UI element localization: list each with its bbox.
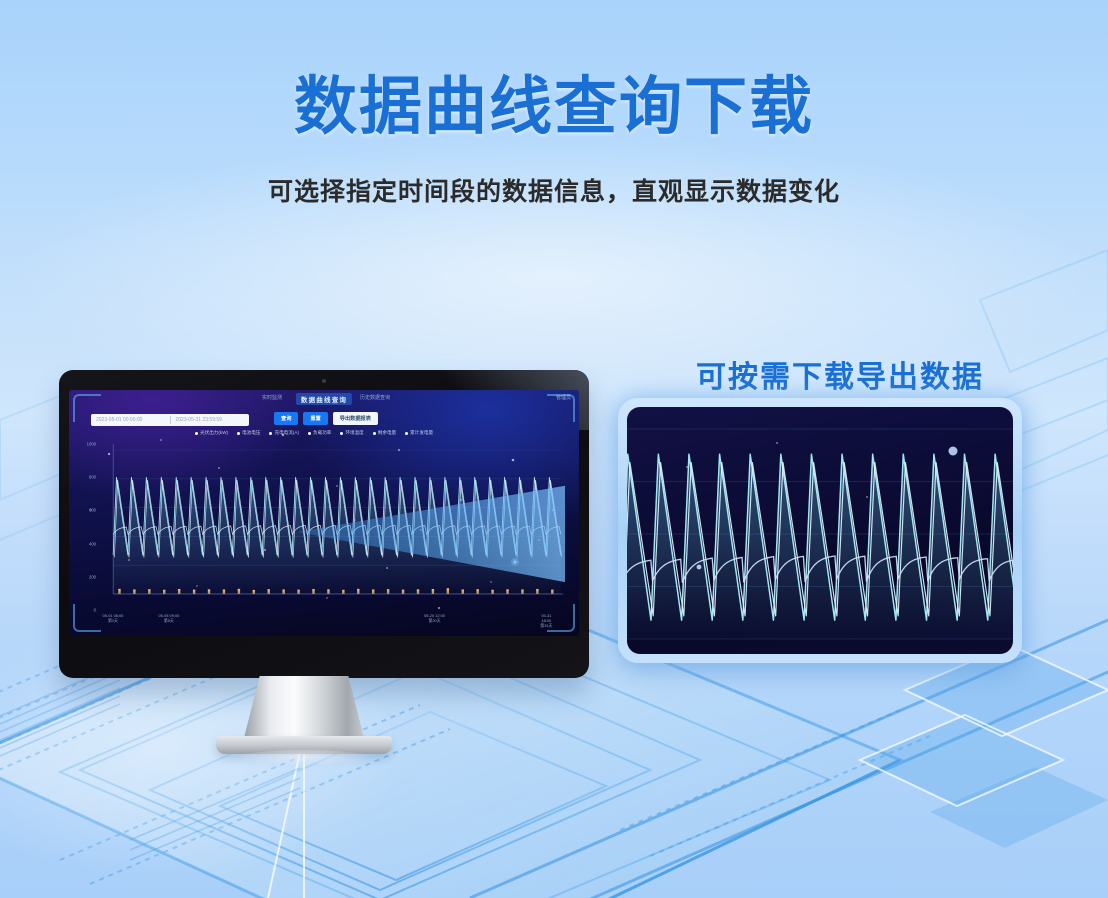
dashboard-action-buttons: 查询 重置 导出数据报表: [274, 412, 378, 425]
inset-chart-svg: [627, 407, 1013, 654]
query-button[interactable]: 查询: [274, 412, 298, 425]
y-tick-label: 200: [89, 574, 96, 579]
export-data-button[interactable]: 导出数据报表: [333, 412, 378, 425]
x-tick-label: 05-05 09:00 第5天: [159, 614, 180, 624]
date-range-picker[interactable]: 2023-05-01 00:00:00 2023-05-31 23:59:59: [91, 414, 249, 426]
legend-item[interactable]: 环境温度: [340, 430, 363, 436]
dashboard-topbar: 实时监测 数据曲线查询 历史数据查询 管理员: [69, 391, 579, 405]
inset-chart-screen: [627, 407, 1013, 654]
inset-chart-panel: [618, 398, 1022, 663]
legend-label: 累计发电量: [410, 430, 433, 436]
user-label[interactable]: 管理员: [556, 394, 571, 401]
legend-item[interactable]: 剩余电量: [373, 430, 396, 436]
legend-item[interactable]: 光伏出力(kW): [195, 430, 228, 436]
x-tick-label: 05-20 12:00 第20天: [424, 614, 445, 624]
x-tick-label: 05-31 18:00 第31天: [537, 614, 556, 629]
legend-dot-icon: [405, 432, 408, 435]
chart-plot-area: 1000 800 600 400 200 0: [99, 444, 565, 610]
chart-x-axis: 05-01 06:00 第1天 05-05 09:00 第5天 05-20 12…: [99, 614, 565, 628]
legend-item[interactable]: 电池电压: [237, 430, 260, 436]
legend-dot-icon: [373, 432, 376, 435]
nav-right-label[interactable]: 历史数据查询: [360, 394, 390, 401]
legend-dot-icon: [269, 432, 272, 435]
legend-label: 负载功率: [313, 430, 331, 436]
dashboard-ui: 实时监测 数据曲线查询 历史数据查询 管理员 2023-05-01 00:00:…: [69, 390, 579, 636]
chart-y-axis: 1000 800 600 400 200 0: [77, 444, 99, 610]
y-tick-label: 800: [89, 475, 96, 480]
legend-dot-icon: [195, 432, 198, 435]
y-tick-label: 0: [94, 608, 96, 613]
legend-item[interactable]: 累计发电量: [405, 430, 433, 436]
x-tick-label: 05-01 06:00 第1天: [103, 614, 124, 624]
monitor-stand-reflection: [236, 750, 372, 766]
dashboard-app-title: 数据曲线查询: [296, 393, 352, 405]
legend-item[interactable]: 充电电流(A): [269, 430, 299, 436]
y-tick-label: 400: [89, 541, 96, 546]
monitor-stand-neck: [244, 676, 364, 738]
legend-label: 环境温度: [345, 430, 363, 436]
main-chart-svg: [99, 444, 565, 610]
date-start-input[interactable]: 2023-05-01 00:00:00: [91, 417, 170, 423]
chart-legend: 光伏出力(kW) 电池电压 充电电流(A) 负载功率 环境温度 剩余电量 累计发…: [195, 430, 563, 436]
monitor: 实时监测 数据曲线查询 历史数据查询 管理员 2023-05-01 00:00:…: [59, 370, 589, 678]
page-subtitle: 可选择指定时间段的数据信息，直观显示数据变化: [0, 172, 1108, 208]
nav-left-label[interactable]: 实时监测: [262, 394, 282, 401]
monitor-screen: 实时监测 数据曲线查询 历史数据查询 管理员 2023-05-01 00:00:…: [69, 390, 579, 636]
y-tick-label: 1000: [87, 442, 96, 447]
reset-button[interactable]: 重置: [303, 412, 327, 425]
legend-label: 剩余电量: [378, 430, 396, 436]
legend-item[interactable]: 负载功率: [308, 430, 331, 436]
page-title: 数据曲线查询下载: [0, 56, 1108, 147]
side-heading: 可按需下载导出数据: [660, 352, 1020, 396]
legend-label: 充电电流(A): [274, 430, 299, 436]
date-end-input[interactable]: 2023-05-31 23:59:59: [171, 417, 250, 423]
webcam-icon: [322, 379, 326, 383]
legend-dot-icon: [340, 432, 343, 435]
y-tick-label: 600: [89, 508, 96, 513]
legend-label: 光伏出力(kW): [200, 430, 228, 436]
legend-label: 电池电压: [242, 430, 260, 436]
promo-page: 数据曲线查询下载 可选择指定时间段的数据信息，直观显示数据变化 可按需下载导出数…: [0, 0, 1108, 898]
legend-dot-icon: [237, 432, 240, 435]
legend-dot-icon: [308, 432, 311, 435]
